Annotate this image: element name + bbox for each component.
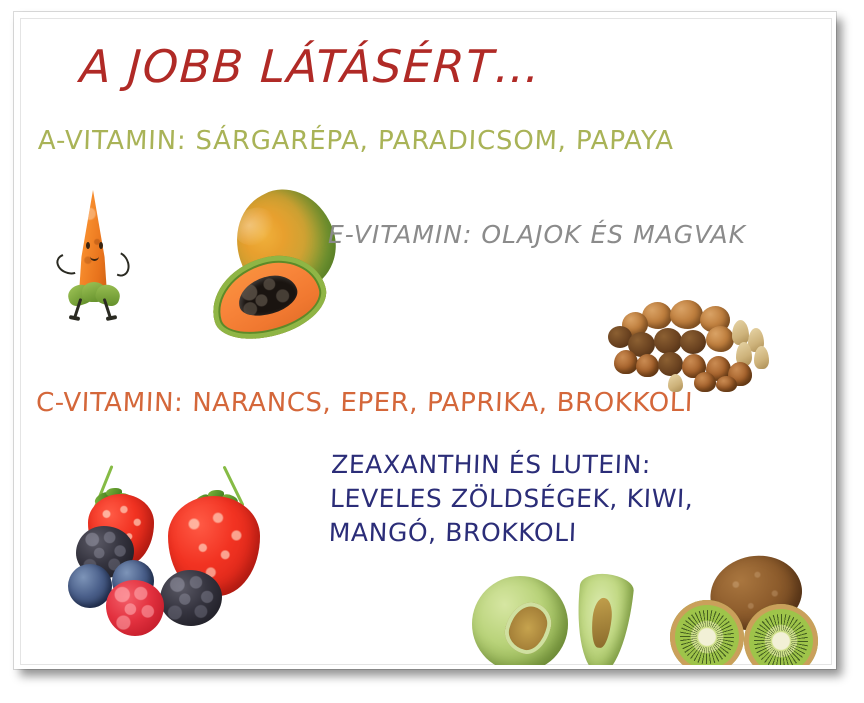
melon-wedge: [571, 571, 635, 665]
melon-image: [472, 570, 634, 665]
kiwi-half-right: [744, 604, 818, 665]
melon-seed-cavity: [500, 597, 555, 658]
zeaxanthin-line-3: MANGÓ, BROKKOLI: [328, 516, 693, 550]
carrot-foot-right: [106, 315, 118, 321]
carrot-leaves: [68, 282, 120, 308]
carrot-eye-left: [86, 242, 90, 249]
papaya-seeds: [233, 269, 301, 322]
cartoon-carrot-character-image: [50, 186, 136, 318]
carrot-foot-left: [69, 315, 81, 321]
page-title: A JOBB LÁTÁSÉRT…: [79, 40, 543, 93]
poster-root: A JOBB LÁTÁSÉRT… A-VITAMIN: SÁRGARÉPA, P…: [0, 0, 864, 703]
vitamin-a-text: A-VITAMIN: SÁRGARÉPA, PARADICSOM, PAPAYA: [37, 126, 674, 156]
papaya-image: [208, 190, 358, 350]
carrot-arm-right: [105, 248, 134, 280]
zeaxanthin-line-1: ZEAXANTHIN ÉS LUTEIN:: [331, 448, 696, 482]
zeaxanthin-line-2: LEVELES ZÖLDSÉGEK, KIWI,: [329, 482, 694, 516]
kiwi-image: [670, 556, 826, 665]
kiwi-half-left: [670, 600, 744, 665]
vitamin-e-text: E-VITAMIN: OLAJOK ÉS MAGVAK: [328, 220, 746, 249]
carrot-eye-right: [99, 242, 103, 249]
mixed-berries-image: [54, 464, 294, 644]
zeaxanthin-lutein-text: ZEAXANTHIN ÉS LUTEIN: LEVELES ZÖLDSÉGEK,…: [328, 448, 695, 550]
melon-halved: [472, 576, 568, 665]
blackberry-lower: [160, 570, 222, 626]
carrot-arm-left: [53, 250, 85, 278]
raspberry: [106, 580, 164, 636]
mixed-nuts-pile-image: [608, 300, 776, 392]
poster-frame: A JOBB LÁTÁSÉRT… A-VITAMIN: SÁRGARÉPA, P…: [20, 18, 832, 665]
vitamin-c-text: C-VITAMIN: NARANCS, EPER, PAPRIKA, BROKK…: [35, 388, 693, 418]
poster-canvas: A JOBB LÁTÁSÉRT… A-VITAMIN: SÁRGARÉPA, P…: [20, 18, 832, 665]
